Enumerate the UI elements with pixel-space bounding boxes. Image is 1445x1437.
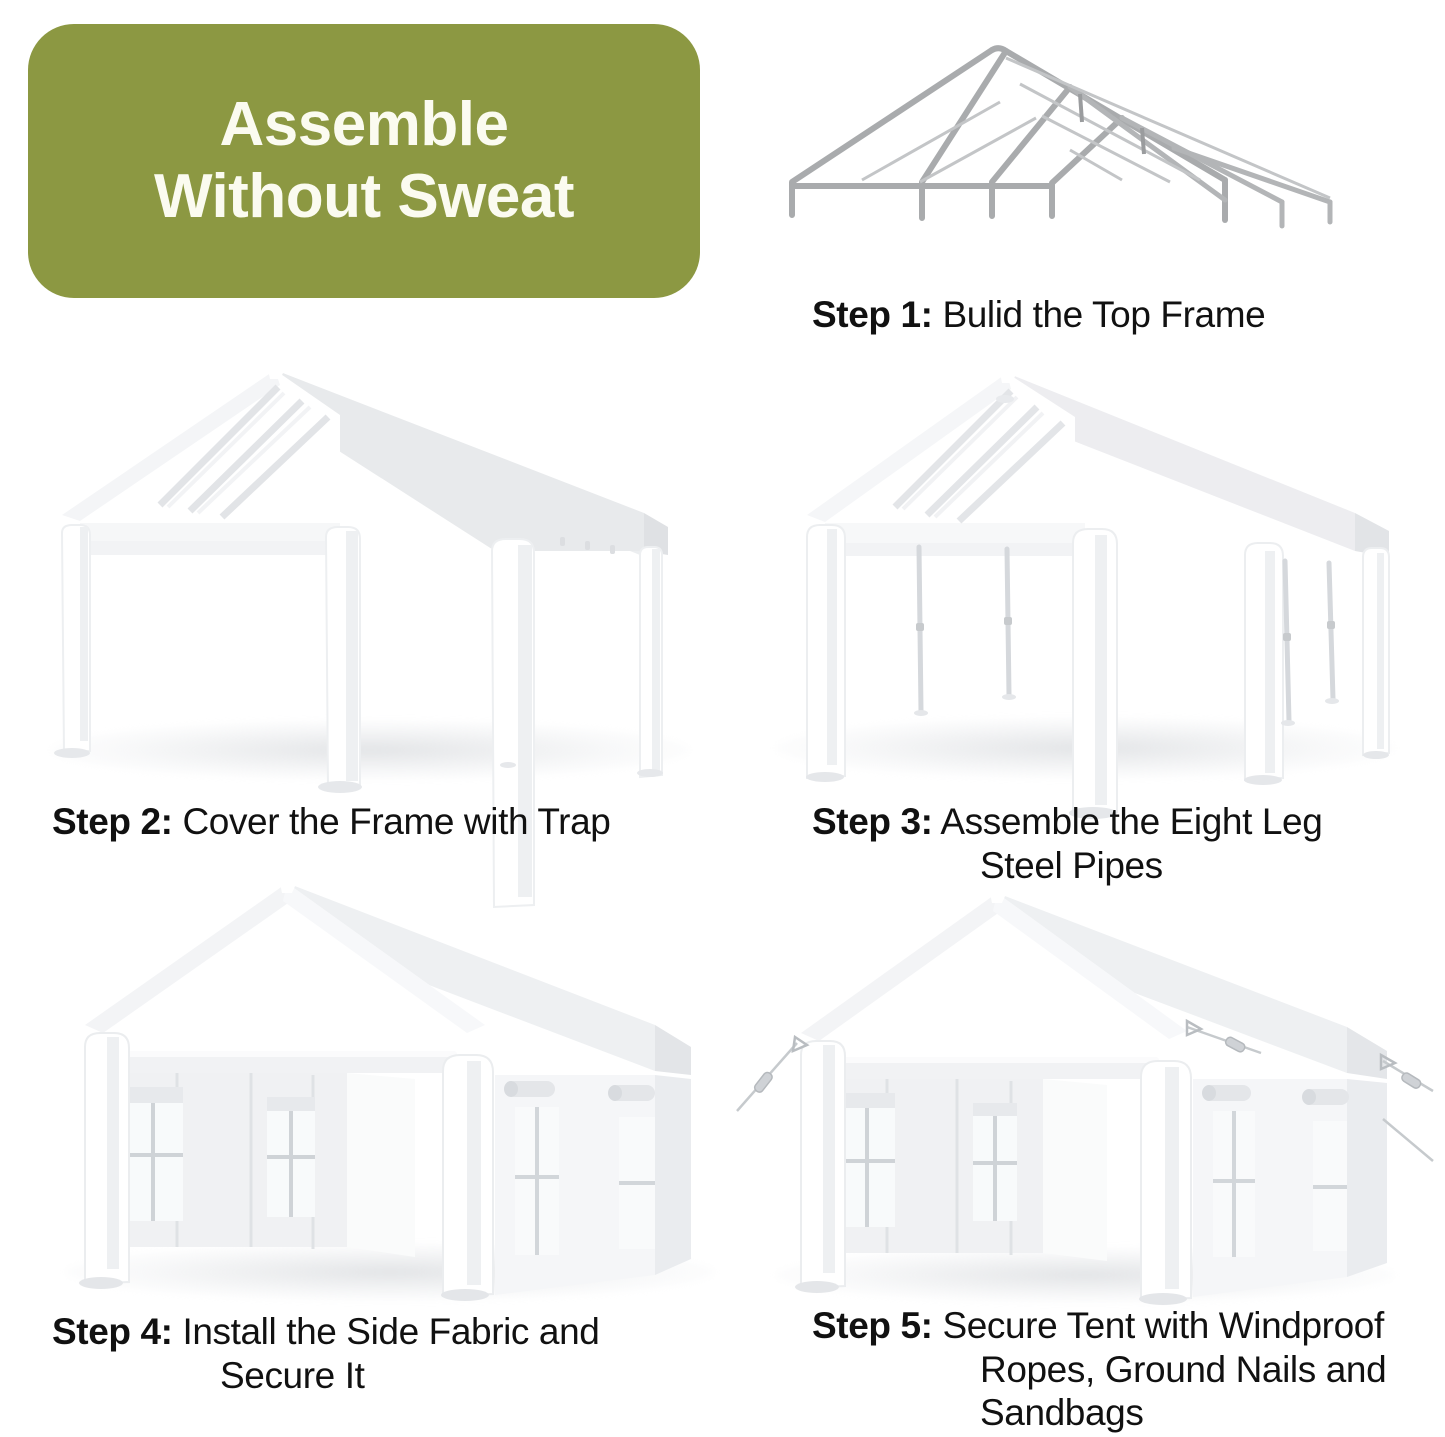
tent-with-guy-ropes-svg <box>735 875 1435 1305</box>
canopy-with-four-legs-svg <box>40 355 720 790</box>
step-5-caption: Step 5: Secure Tent with Windproof Ropes… <box>812 1304 1445 1435</box>
window <box>839 1093 895 1227</box>
step-4-desc: Install the Side Fabric and <box>182 1311 599 1352</box>
assembly-instructions-infographic: Assemble Without Sweat <box>0 0 1445 1437</box>
step-2-desc: Cover the Frame with Trap <box>182 801 610 842</box>
window <box>267 1097 315 1217</box>
window <box>619 1117 655 1249</box>
window <box>973 1103 1017 1221</box>
headline-badge: Assemble Without Sweat <box>28 24 700 298</box>
step-1-desc: Bulid the Top Frame <box>942 294 1265 335</box>
canopy-with-eight-legs-svg <box>755 365 1425 795</box>
step-1-illustration <box>770 30 1370 250</box>
step-3-label: Step 3: <box>812 801 933 842</box>
step-4-label: Step 4: <box>52 1311 173 1352</box>
step-2-illustration <box>40 355 720 790</box>
step-3-illustration <box>755 365 1425 795</box>
step-4-caption: Step 4: Install the Side Fabric and Secu… <box>52 1310 752 1397</box>
step-2-label: Step 2: <box>52 801 173 842</box>
window <box>1213 1111 1255 1257</box>
step-5-desc-cont2: Sandbags <box>980 1391 1445 1435</box>
headline-line-2: Without Sweat <box>154 161 574 233</box>
tent-with-side-fabric-svg <box>55 875 735 1305</box>
window <box>123 1087 183 1221</box>
step-4-desc-cont: Secure It <box>220 1354 752 1398</box>
window <box>515 1107 559 1255</box>
step-1-label: Step 1: <box>812 294 933 335</box>
step-5-label: Step 5: <box>812 1305 933 1346</box>
step-5-illustration <box>735 875 1435 1305</box>
window <box>1313 1121 1347 1251</box>
steel-pipe-roof-frame-svg <box>770 30 1370 250</box>
step-5-desc: Secure Tent with Windproof <box>942 1305 1383 1346</box>
step-3-desc: Assemble the Eight Leg <box>940 801 1322 842</box>
step-2-caption: Step 2: Cover the Frame with Trap <box>52 800 752 844</box>
step-4-illustration <box>55 875 735 1305</box>
headline-line-1: Assemble <box>220 89 509 161</box>
step-1-caption: Step 1: Bulid the Top Frame <box>812 293 1412 337</box>
step-5-desc-cont: Ropes, Ground Nails and <box>980 1348 1445 1392</box>
